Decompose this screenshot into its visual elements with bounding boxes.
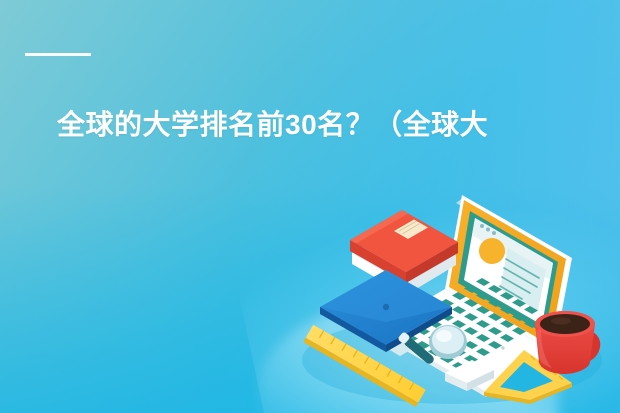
page-title: 全球的大学排名前30名？（全球大	[57, 105, 557, 145]
screenshot-canvas: 全球的大学排名前30名？（全球大	[0, 0, 620, 413]
background-tint-bottom	[0, 0, 620, 413]
accent-rule	[25, 53, 91, 56]
